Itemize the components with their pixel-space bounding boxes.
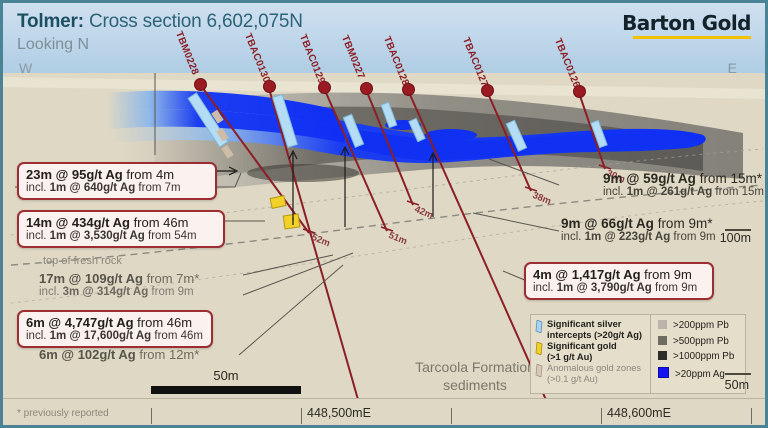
legend-item-anomalous-gold: Anomalous gold zones (>0.1 g/t Au) [535,363,647,384]
callout-right-2-incl: 1m @ 223g/t Ag [585,231,671,243]
callout-4-incl: 1m @ 3,790g/t Ag [557,282,652,294]
legend-swatch-ag20-label: >20ppm Ag [675,369,725,380]
callout-1-headline: 23m @ 95g/t Ag [26,167,123,182]
callout-3-headline: 6m @ 4,747g/t Ag [26,315,134,330]
collar-TBM0227[interactable] [360,82,373,95]
callout-2-incl: 1m @ 3,530g/t Ag [50,230,145,242]
callout-plain-2-headline: 6m @ 102g/t Ag [39,347,136,362]
callout-4-headline: 4m @ 1,417g/t Ag [533,267,641,282]
legend-anomalous-text: Anomalous gold zones (>0.1 g/t Au) [547,363,641,384]
callout-4-incl-pre: incl. [533,282,557,294]
callout-right-2-headline: 9m @ 66g/t Ag [561,216,654,231]
legend-swatch-pb500-label: >500ppm Pb [673,336,729,347]
legend-swatch-pb200-label: >200ppm Pb [673,320,729,331]
cross-section-figure: Tolmer: Cross section 6,602,075N Looking… [0,0,768,428]
vertical-scale-100m-label: 100m [720,231,751,245]
callout-right-1-incl-pre: incl. [603,186,627,198]
scale-bar-label: 50m [151,368,301,383]
callout-right-2-incl-from: from 9m [670,231,715,243]
callout-boxed-4: 4m @ 1,417g/t Ag from 9m incl. 1m @ 3,79… [524,262,714,300]
callout-2-headline: 14m @ 434g/t Ag [26,215,130,230]
legend-swatch-pb200: >200ppm Pb [658,320,745,331]
callout-right-1: 9m @ 59g/t Ag from 15m* incl. 1m @ 261g/… [603,171,764,198]
coordinate-left: 448,500mE [307,406,371,420]
legend-silver-text: Significant silver intercepts (>20g/t Ag… [547,319,642,340]
callout-3-incl-from: from 46m [151,330,203,342]
callout-plain-2: 6m @ 102g/t Ag from 12m* [39,347,199,362]
callout-plain-1-incl-from: from 9m [148,286,193,298]
callout-3-incl-pre: incl. [26,330,50,342]
callout-1-incl-pre: incl. [26,182,50,194]
footnote: * previously reported [17,408,109,419]
legend-swatch-pb1000-label: >1000ppm Pb [673,351,734,362]
callout-right-1-incl: 1m @ 261g/t Ag [627,186,713,198]
legend-anomalous-l2: (>0.1 g/t Au) [547,374,598,384]
collar-TBM0228[interactable] [194,78,207,91]
swatch-ag20-icon [658,367,669,378]
legend-swatch-pb1000: >1000ppm Pb [658,351,745,362]
callout-plain-1-incl-pre: incl. [39,286,63,298]
anomalous-gold-icon [535,364,544,382]
legend-item-silver: Significant silver intercepts (>20g/t Ag… [535,319,647,340]
legend-gold-text: Significant gold (>1 g/t Au) [547,341,617,362]
legend-swatch-pb500: >500ppm Pb [658,336,745,347]
swatch-pb500-icon [658,336,667,345]
callout-2-from: from 46m [130,215,189,230]
callout-plain-1-headline: 17m @ 109g/t Ag [39,271,143,286]
callout-right-1-incl-from: from 15m [712,186,764,198]
legend-gold-l2: (>1 g/t Au) [547,352,592,362]
vertical-scale-50m-bar [725,373,751,375]
callout-plain-1: 17m @ 109g/t Ag from 7m* incl. 3m @ 314g… [39,271,199,298]
callout-right-2-incl-pre: incl. [561,231,585,243]
legend-symbols: Significant silver intercepts (>20g/t Ag… [531,315,651,393]
gold-intercept-icon [535,342,544,360]
callout-plain-2-from: from 12m* [136,347,200,362]
callout-3-incl: 1m @ 17,600g/t Ag [50,330,152,342]
top-of-fresh-rock-label: top of fresh rock [43,255,122,267]
callout-4-from: from 9m [641,267,692,282]
callout-2-incl-pre: incl. [26,230,50,242]
legend-silver-l2: intercepts (>20g/t Ag) [547,330,642,340]
callout-boxed-2: 14m @ 434g/t Ag from 46m incl. 1m @ 3,53… [17,210,225,248]
callout-boxed-3: 6m @ 4,747g/t Ag from 46m incl. 1m @ 17,… [17,310,213,348]
callout-3-from: from 46m [134,315,193,330]
silver-intercept-icon [535,320,544,338]
formation-label-line2: sediments [443,377,507,393]
callout-4-incl-from: from 9m [652,282,697,294]
legend-gold-l1: Significant gold [547,341,617,351]
callout-1-incl-from: from 7m [135,182,180,194]
scale-bar [151,386,301,394]
callout-boxed-1: 23m @ 95g/t Ag from 4m incl. 1m @ 640g/t… [17,162,217,200]
callout-1-from: from 4m [123,167,174,182]
coordinate-right: 448,600mE [607,406,671,420]
swatch-pb1000-icon [658,351,667,360]
swatch-pb200-icon [658,320,667,329]
callout-right-1-from: from 15m* [696,171,762,186]
formation-label-line1: Tarcoola Formation [415,359,535,375]
callout-1-incl: 1m @ 640g/t Ag [50,182,136,194]
legend: Significant silver intercepts (>20g/t Ag… [530,314,746,394]
legend-silver-l1: Significant silver [547,319,621,329]
legend-item-gold: Significant gold (>1 g/t Au) [535,341,647,362]
callout-plain-1-from: from 7m* [143,271,199,286]
callout-2-incl-from: from 54m [145,230,197,242]
callout-right-2-from: from 9m* [654,216,713,231]
legend-anomalous-l1: Anomalous gold zones [547,363,641,373]
callout-right-1-headline: 9m @ 59g/t Ag [603,171,696,186]
bottom-axis: * previously reported 448,500mE 448,600m… [3,398,768,425]
callout-plain-1-incl: 3m @ 314g/t Ag [63,286,149,298]
vertical-scale-50m-label: 50m [725,378,749,392]
silver-satellite-b [425,129,477,141]
callout-right-2: 9m @ 66g/t Ag from 9m* incl. 1m @ 223g/t… [561,216,716,243]
